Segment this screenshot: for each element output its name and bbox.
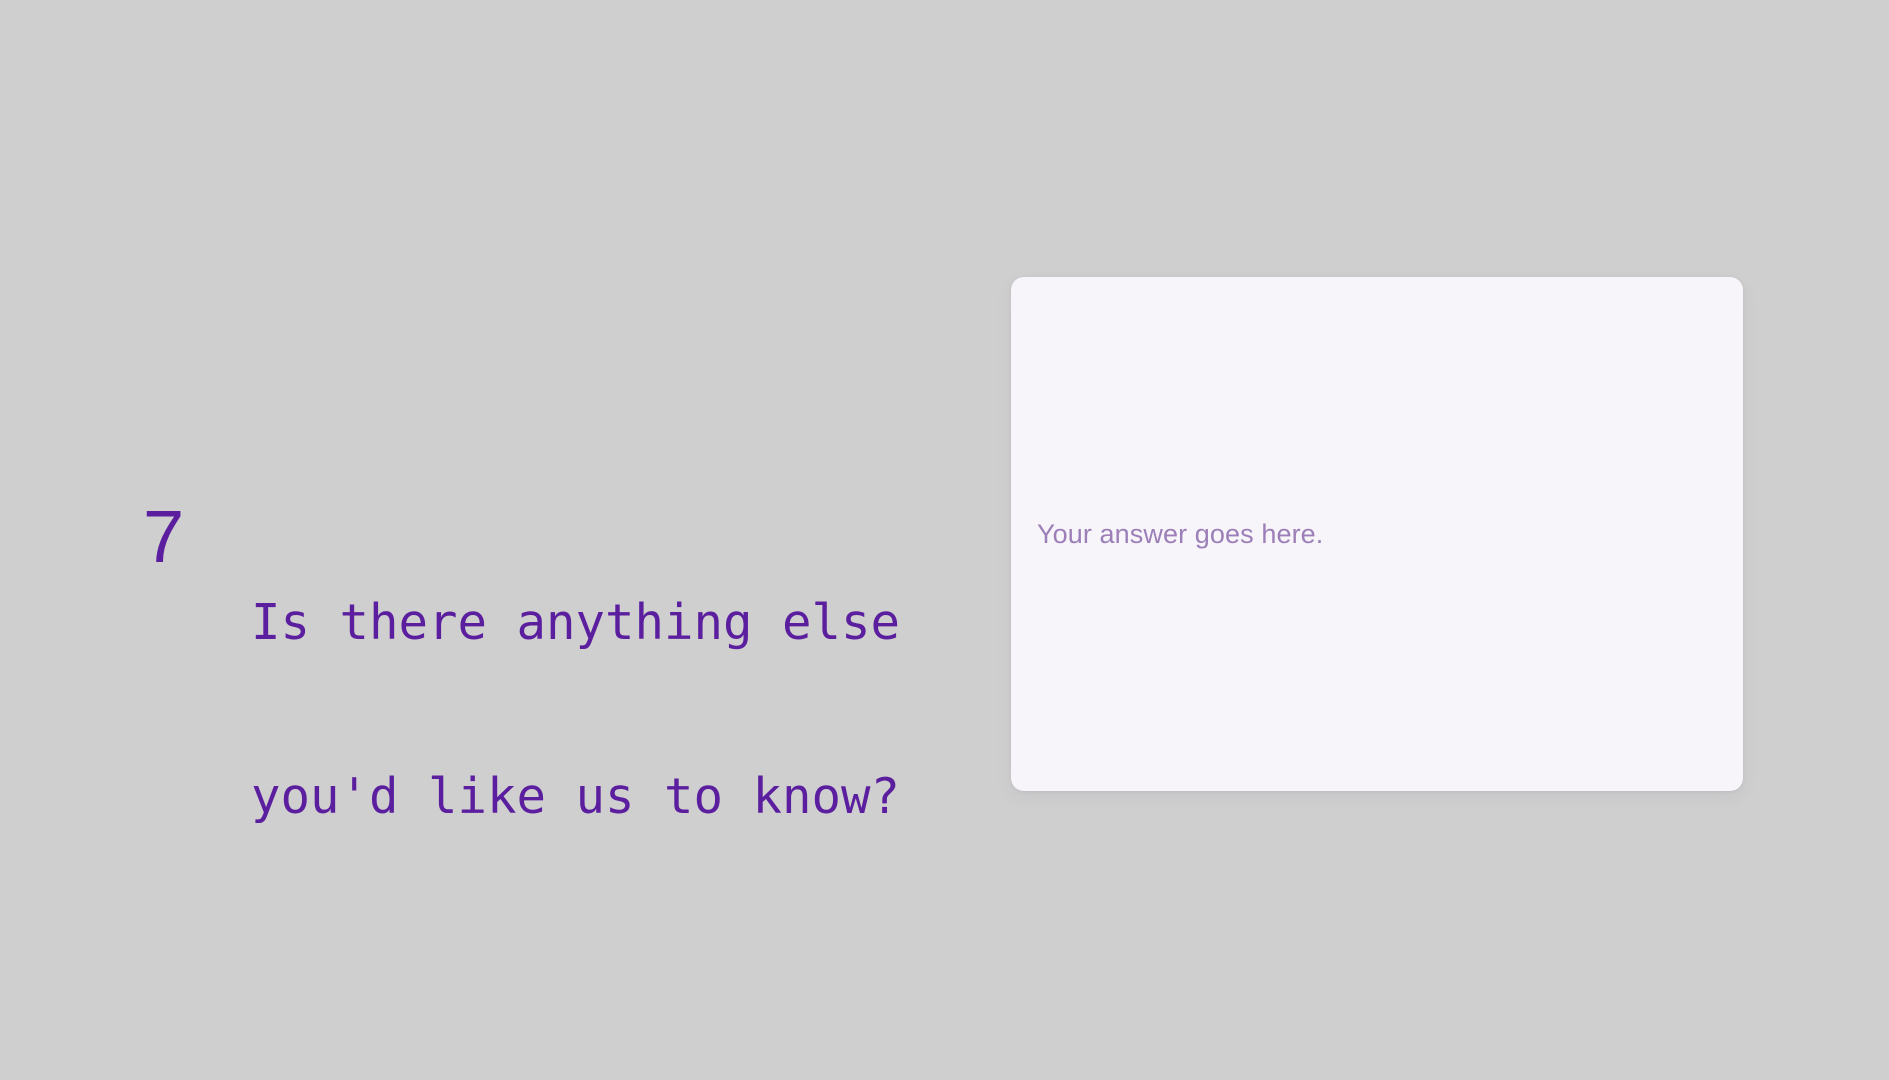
answer-placeholder-text: Your answer goes here. — [1037, 277, 1323, 791]
question-number: 7 — [143, 478, 251, 574]
question-block: 7 Is there anything else you'd like us t… — [143, 478, 900, 942]
question-prompt-line-1: Is there anything else — [251, 594, 900, 652]
question-prompt-line-2: you'd like us to know? — [251, 768, 900, 826]
answer-input-card[interactable]: Your answer goes here. — [1011, 277, 1743, 791]
question-prompt: Is there anything else you'd like us to … — [251, 478, 900, 942]
survey-question-screen: 7 Is there anything else you'd like us t… — [0, 0, 1889, 1080]
